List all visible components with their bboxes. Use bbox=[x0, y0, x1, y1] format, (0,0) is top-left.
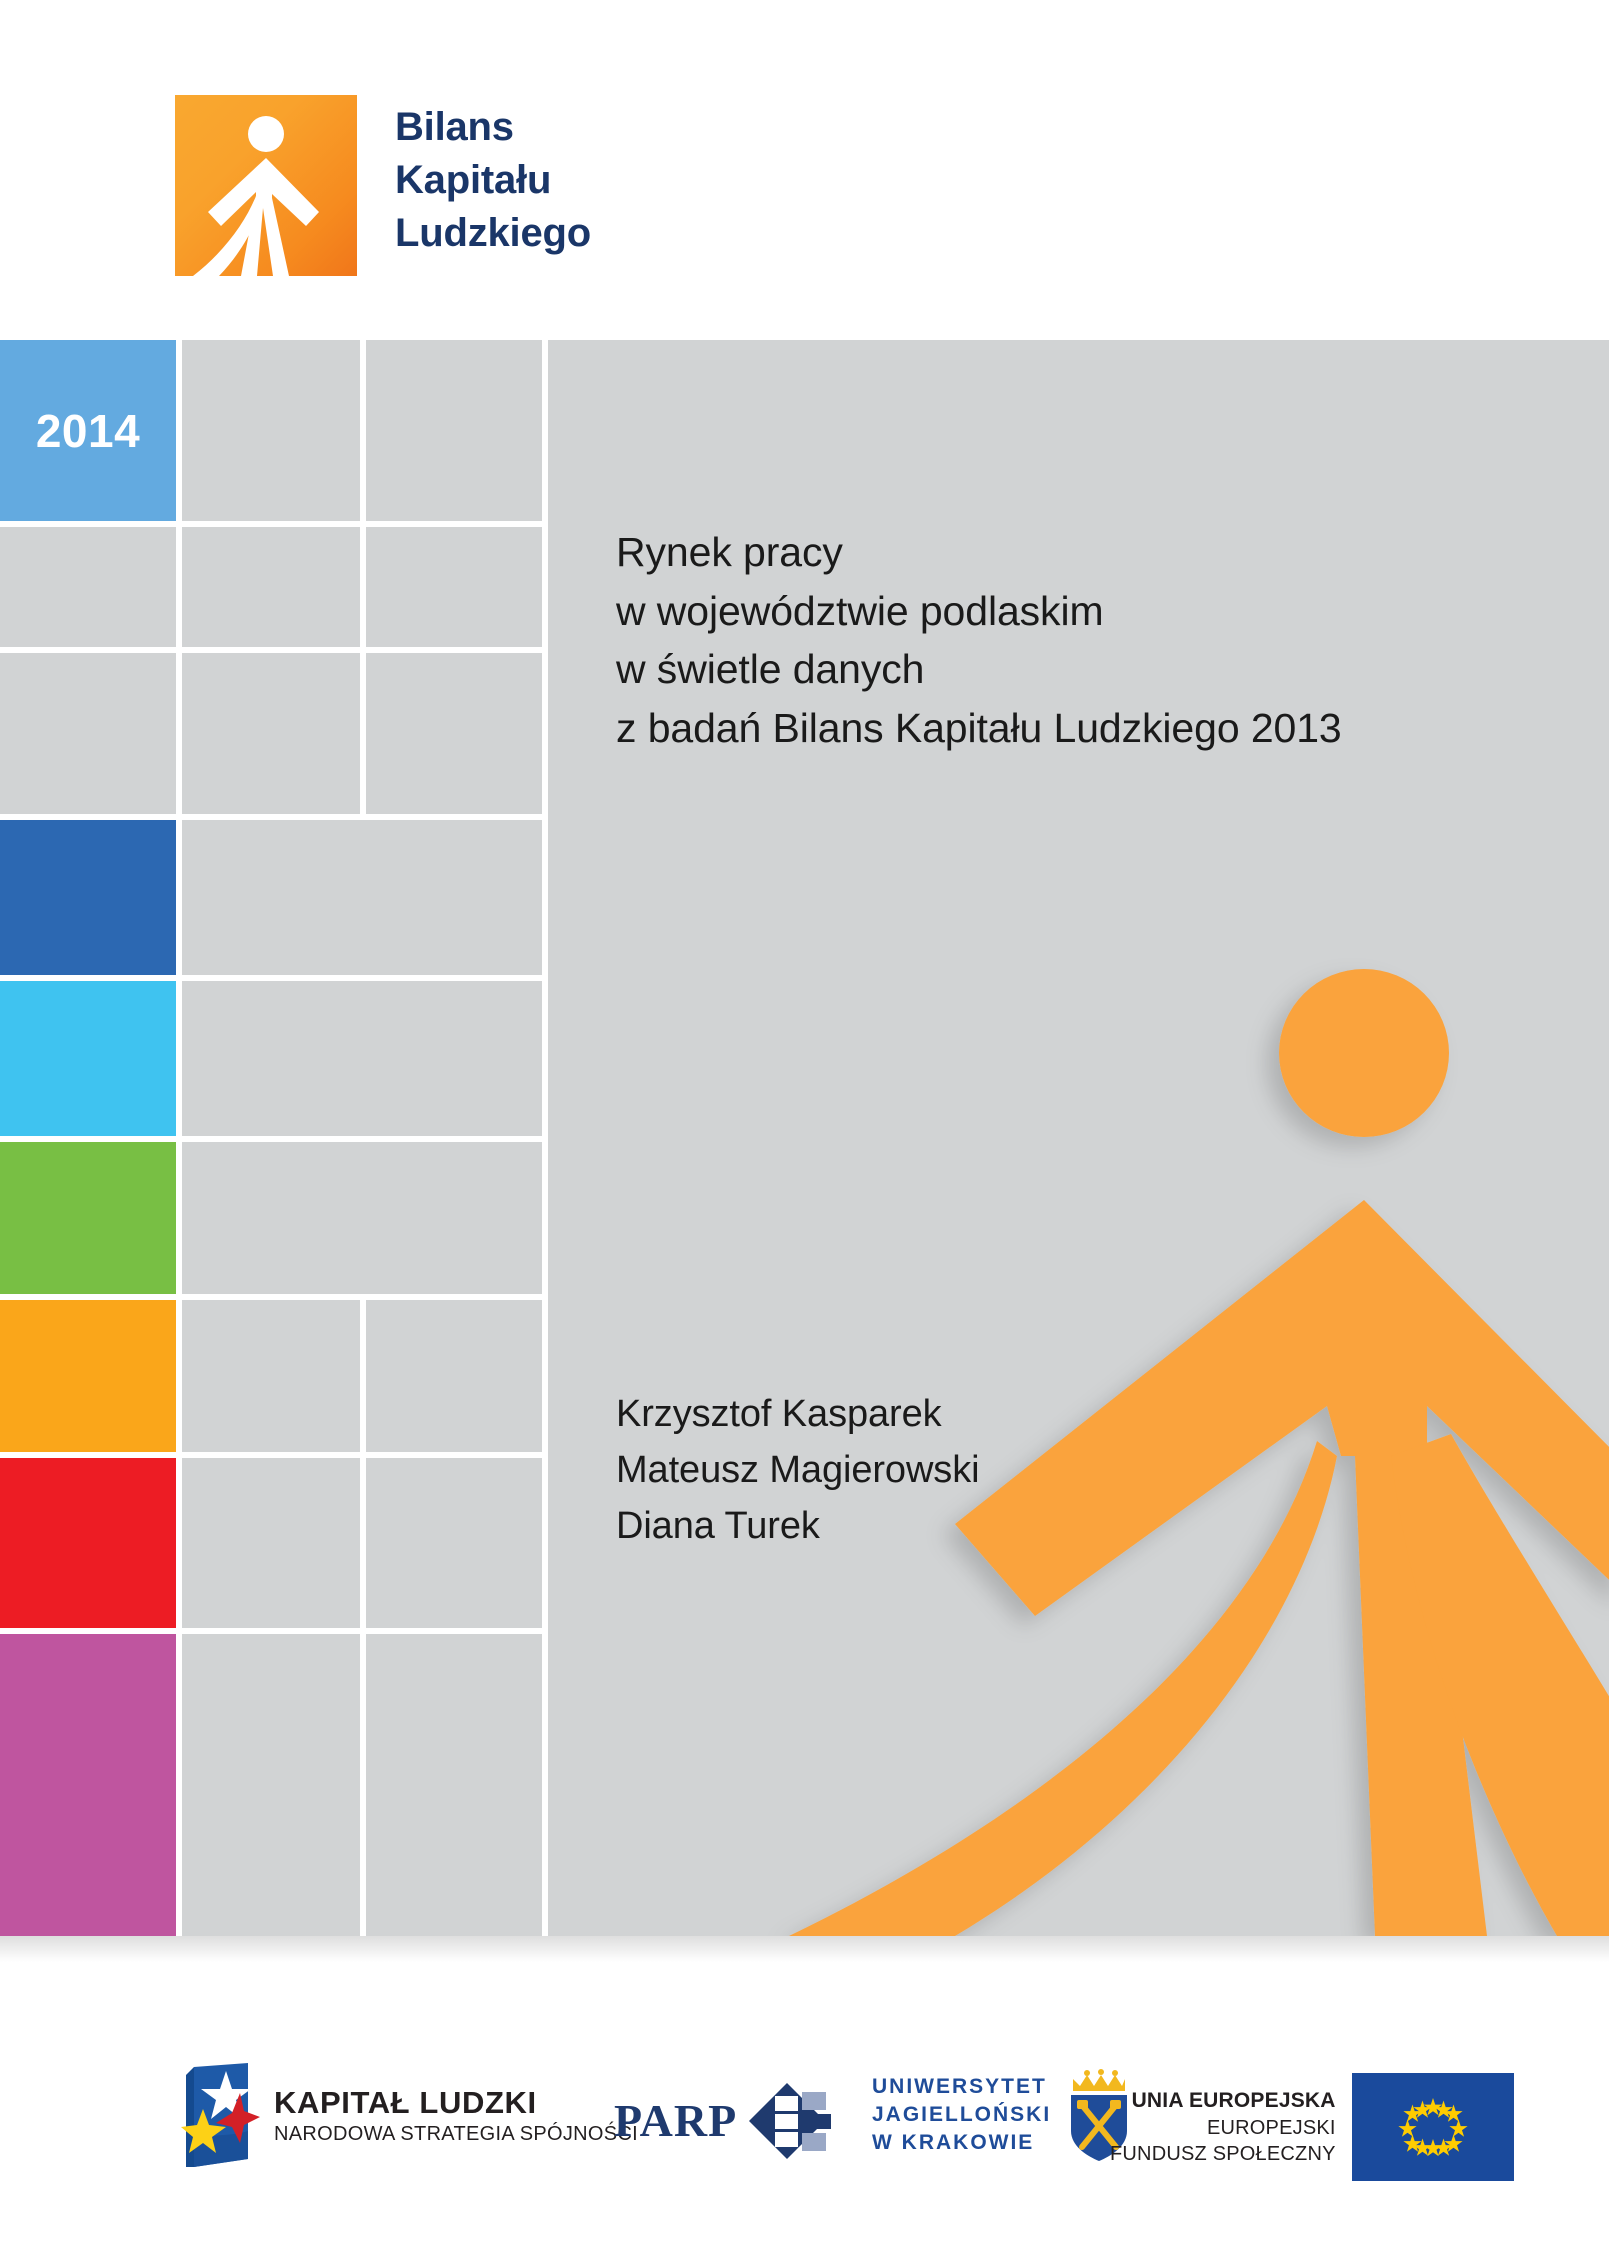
parp-title: PARP bbox=[614, 2098, 737, 2144]
brand-logo: Bilans Kapitału Ludzkiego bbox=[175, 95, 591, 276]
mosaic-cell bbox=[0, 653, 176, 814]
author-name: Diana Turek bbox=[616, 1499, 979, 1555]
mosaic-cell bbox=[366, 527, 542, 647]
authors-list: Krzysztof Kasparek Mateusz Magierowski D… bbox=[616, 1387, 979, 1555]
color-mosaic-grid: 2014 bbox=[0, 340, 542, 1936]
mosaic-cell bbox=[182, 1458, 360, 1628]
year-badge: 2014 bbox=[0, 340, 176, 521]
uj-line-1: UNIWERSYTET bbox=[872, 2073, 1051, 2101]
title-line: w województwie podlaskim bbox=[616, 582, 1342, 641]
eu-text: UNIA EUROPEJSKA EUROPEJSKI FUNDUSZ SPOŁE… bbox=[1110, 2087, 1336, 2166]
title-line: w świetle danych bbox=[616, 640, 1342, 699]
mosaic-cell bbox=[366, 1458, 542, 1628]
footer-logo-row: KAPITAŁ LUDZKI NARODOWA STRATEGIA SPÓJNO… bbox=[0, 2055, 1609, 2195]
mosaic-cell bbox=[182, 527, 360, 647]
mosaic-cell-dark-blue bbox=[0, 820, 176, 975]
uj-line-3: W KRAKOWIE bbox=[872, 2129, 1051, 2157]
parp-diamond-icon bbox=[749, 2083, 831, 2159]
title-line: z badań Bilans Kapitału Ludzkiego 2013 bbox=[616, 699, 1342, 758]
year-badge-label: 2014 bbox=[36, 404, 140, 458]
kapital-ludzki-text: KAPITAŁ LUDZKI NARODOWA STRATEGIA SPÓJNO… bbox=[274, 2087, 638, 2148]
mosaic-cell-red bbox=[0, 1458, 176, 1628]
eu-logo: UNIA EUROPEJSKA EUROPEJSKI FUNDUSZ SPOŁE… bbox=[1110, 2073, 1514, 2181]
mosaic-cell bbox=[182, 653, 360, 814]
cover-content-panel: Rynek pracy w województwie podlaskim w ś… bbox=[548, 340, 1609, 1936]
mosaic-cell bbox=[182, 1634, 360, 1936]
cover-main-band: 2014 Rynek pracy bbox=[0, 340, 1609, 1936]
mosaic-cell bbox=[182, 820, 542, 975]
mosaic-cell bbox=[182, 981, 542, 1136]
eu-flag-icon bbox=[1352, 2073, 1514, 2181]
mosaic-cell-magenta bbox=[0, 1634, 176, 1936]
uj-text: UNIWERSYTET JAGIELLOŃSKI W KRAKOWIE bbox=[872, 2073, 1051, 2157]
mosaic-cell-cyan bbox=[0, 981, 176, 1136]
kapital-ludzki-title: KAPITAŁ LUDZKI bbox=[274, 2087, 638, 2120]
uj-logo: UNIWERSYTET JAGIELLOŃSKI W KRAKOWIE bbox=[872, 2069, 1133, 2161]
kapital-ludzki-stars-icon bbox=[178, 2063, 260, 2171]
brand-line-3: Ludzkiego bbox=[395, 207, 591, 260]
eu-subtitle-line-2: FUNDUSZ SPOŁECZNY bbox=[1110, 2141, 1336, 2167]
mosaic-cell bbox=[366, 653, 542, 814]
mosaic-cell bbox=[182, 1300, 360, 1452]
walking-person-arrow-icon bbox=[175, 95, 357, 276]
mosaic-cell-green bbox=[0, 1142, 176, 1294]
brand-line-2: Kapitału bbox=[395, 154, 591, 207]
mosaic-cell bbox=[182, 1142, 542, 1294]
page-title: Rynek pracy w województwie podlaskim w ś… bbox=[616, 523, 1342, 758]
brand-line-1: Bilans bbox=[395, 101, 591, 154]
uj-line-2: JAGIELLOŃSKI bbox=[872, 2101, 1051, 2129]
eu-subtitle-line-1: EUROPEJSKI bbox=[1110, 2115, 1336, 2141]
parp-logo: PARP bbox=[614, 2083, 831, 2159]
kapital-ludzki-logo: KAPITAŁ LUDZKI NARODOWA STRATEGIA SPÓJNO… bbox=[178, 2063, 638, 2171]
band-shadow bbox=[0, 1936, 1609, 1962]
mosaic-cell bbox=[182, 340, 360, 521]
mosaic-cell bbox=[366, 340, 542, 521]
author-name: Mateusz Magierowski bbox=[616, 1443, 979, 1499]
eu-title: UNIA EUROPEJSKA bbox=[1110, 2087, 1336, 2114]
mosaic-cell bbox=[0, 527, 176, 647]
mosaic-cell-orange bbox=[0, 1300, 176, 1452]
mosaic-cell bbox=[366, 1300, 542, 1452]
mosaic-cell bbox=[366, 1634, 542, 1936]
kapital-ludzki-subtitle: NARODOWA STRATEGIA SPÓJNOŚCI bbox=[274, 2122, 638, 2147]
brand-logo-text: Bilans Kapitału Ludzkiego bbox=[395, 95, 591, 259]
author-name: Krzysztof Kasparek bbox=[616, 1387, 979, 1443]
title-line: Rynek pracy bbox=[616, 523, 1342, 582]
